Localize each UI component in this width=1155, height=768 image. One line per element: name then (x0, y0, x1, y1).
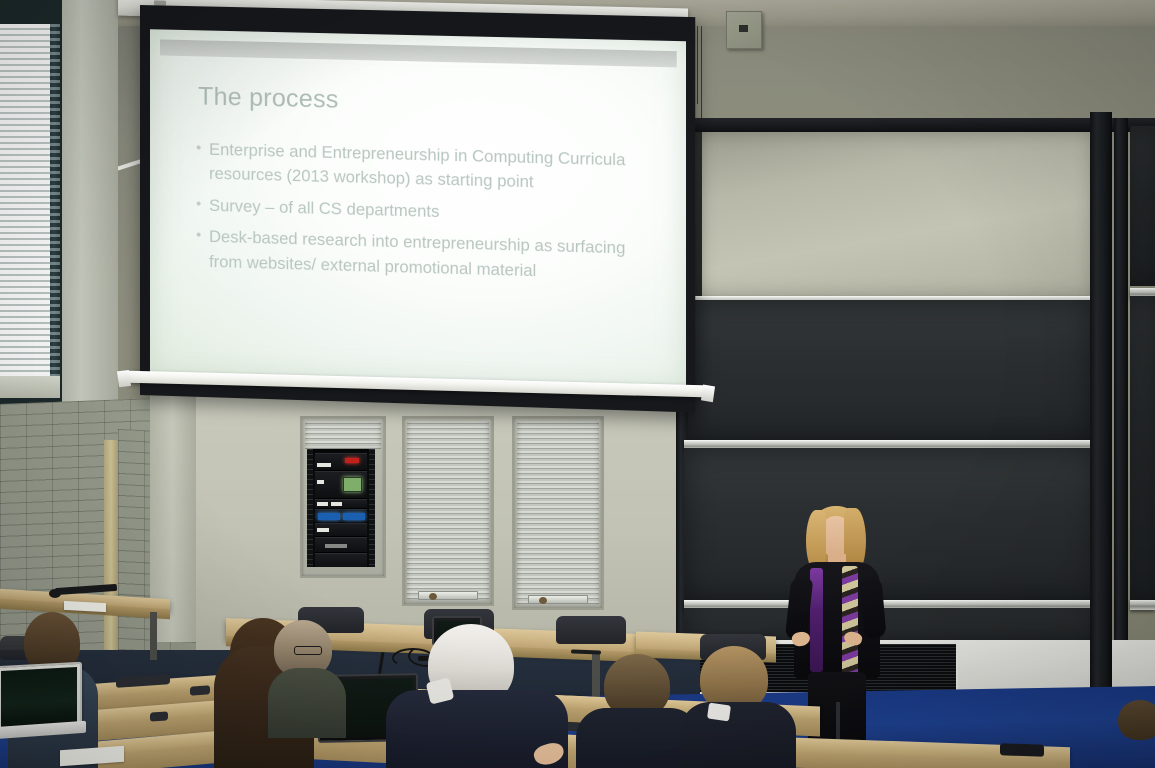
slide-bullet-text: Desk-based research into entrepreneurshi… (209, 228, 625, 280)
audience-member-6 (680, 646, 794, 768)
window-glass (0, 24, 52, 396)
wall-speaker-icon (726, 11, 762, 49)
projection-screen-surface: The process • Enterprise and Entrepreneu… (150, 29, 686, 390)
shirt-collar (707, 703, 731, 722)
roller-shutter[interactable] (517, 421, 599, 605)
av-equipment-rack (307, 449, 375, 567)
bench-fitting (150, 711, 168, 721)
blackboard-panel-far (1130, 126, 1155, 286)
brick-corner-column (104, 440, 118, 650)
shutter-handle[interactable] (528, 595, 588, 604)
blackboard-panel-mid (688, 300, 1092, 440)
window-mullion (50, 24, 60, 396)
presenter-scarf-right (842, 566, 858, 676)
audience-shoulders (268, 668, 346, 738)
chalk-rail (1130, 600, 1155, 610)
bullet-marker-icon: • (196, 225, 201, 247)
audience-member-3 (268, 620, 344, 730)
mobile-device[interactable] (1000, 743, 1044, 757)
blackboard-panel-upper (690, 132, 1092, 296)
speaker-grill (739, 25, 748, 32)
roller-shutter[interactable] (407, 421, 489, 601)
bullet-marker-icon: • (196, 193, 201, 215)
venetian-blinds[interactable] (0, 24, 52, 396)
slide-bullet-item: • Enterprise and Entrepreneurship in Com… (196, 137, 645, 198)
shutter-lock[interactable] (429, 593, 437, 600)
shutter-lock[interactable] (539, 597, 547, 604)
blackboard-panel-far (1130, 296, 1155, 602)
chair[interactable] (556, 616, 626, 644)
slide-title: The process (198, 82, 645, 122)
table-leg (150, 612, 157, 660)
projection-screen-bezel: The process • Enterprise and Entrepreneu… (140, 5, 695, 413)
window-sill (0, 376, 60, 398)
presenter-arm-right (859, 577, 886, 639)
slide-bullet-item: • Survey – of all CS departments (196, 193, 645, 230)
slide-bullet-text: Enterprise and Entrepreneurship in Compu… (209, 141, 625, 192)
shutter-cabinet-right[interactable] (512, 416, 604, 610)
green-lcd-panel (343, 477, 362, 492)
slide-bullet-text: Survey – of all CS departments (209, 197, 439, 221)
shutter-rolled-up[interactable] (305, 421, 381, 449)
lecture-theatre-scene: The process • Enterprise and Entrepreneu… (0, 0, 1155, 768)
blue-backlit-panel (343, 513, 365, 520)
wall-pillar-left (62, 0, 118, 420)
audience-hair (1118, 700, 1155, 740)
red-led-display (345, 458, 359, 463)
glasses-icon (294, 646, 322, 655)
presentation-slide: The process • Enterprise and Entrepreneu… (150, 29, 686, 390)
hanging-wire (697, 26, 698, 104)
blackboard-frame-column (1114, 118, 1128, 666)
microphone-head[interactable] (49, 589, 61, 598)
slide-bullet-item: • Desk-based research into entrepreneurs… (196, 225, 645, 287)
blackboard-frame-top (678, 118, 1155, 132)
audience-member-7 (1118, 700, 1155, 768)
blackboard-frame-column (1090, 112, 1112, 672)
shutter-handle[interactable] (418, 591, 478, 600)
shutter-cabinet-centre[interactable] (402, 416, 494, 606)
audience-shoulders (680, 702, 796, 768)
bullet-marker-icon: • (196, 137, 201, 159)
slide-bullet-list: • Enterprise and Entrepreneurship in Com… (196, 137, 645, 286)
blue-backlit-panel (318, 513, 340, 520)
blackboard-panel-lower (684, 448, 1098, 600)
laptop-display (1, 667, 77, 727)
